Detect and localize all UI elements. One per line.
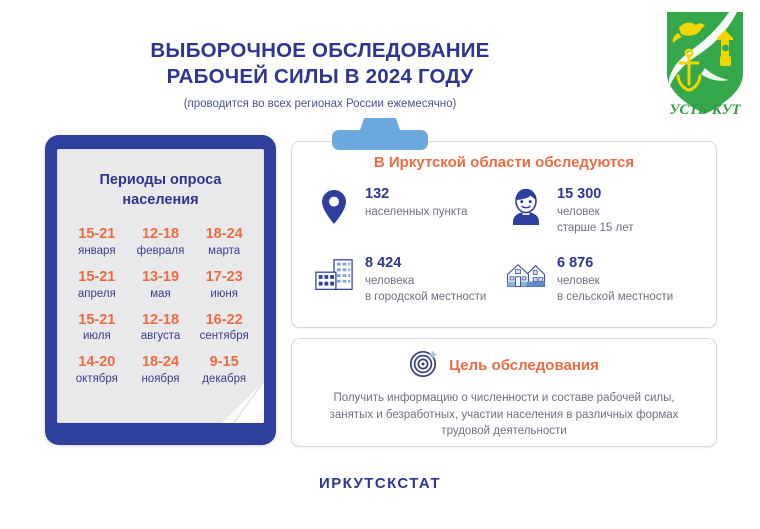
stat-label-line2: в сельской местности xyxy=(557,291,673,303)
period-cell: 18-24 марта xyxy=(192,226,256,258)
stat-settlements: 132 населенных пункта xyxy=(314,185,506,236)
period-range: 15-21 xyxy=(65,226,129,244)
logo-caption: УСТЬ-КУТ xyxy=(669,102,741,118)
clipboard-paper: Периоды опроса населения 15-21 января 12… xyxy=(57,149,264,423)
clipboard-title: Периоды опроса населения xyxy=(71,171,250,210)
period-cell: 17-23 июня xyxy=(192,269,256,301)
goal-header: Цель обследования xyxy=(292,348,716,383)
period-month: августа xyxy=(129,329,193,343)
page-title: ВЫБОРОЧНОЕ ОБСЛЕДОВАНИЕ РАБОЧЕЙ СИЛЫ В 2… xyxy=(0,38,640,89)
period-range: 13-19 xyxy=(129,269,193,287)
period-cell: 12-18 августа xyxy=(129,312,193,344)
survey-periods-grid: 15-21 января 12-18 февраля 18-24 марта 1… xyxy=(65,226,256,386)
ust-kut-coat-of-arms-icon: УСТЬ-КУТ xyxy=(659,8,751,120)
stat-value: 15 300 xyxy=(557,186,633,203)
period-cell: 15-21 января xyxy=(65,226,129,258)
period-range: 12-18 xyxy=(129,226,193,244)
footer-organization: ИРКУТСКСТАТ xyxy=(0,475,760,492)
stat-people-over-15: 15 300 человек старше 15 лет xyxy=(506,185,698,236)
period-range: 17-23 xyxy=(192,269,256,287)
period-month: сентября xyxy=(192,329,256,343)
stat-text: 132 населенных пункта xyxy=(365,185,468,221)
target-icon xyxy=(409,348,439,383)
ust-kut-logo: УСТЬ-КУТ xyxy=(659,8,751,120)
clipboard-title-line1: Периоды опроса xyxy=(100,172,222,188)
goal-text-line2: занятых и безработных, участии населения… xyxy=(330,409,679,421)
goal-title: Цель обследования xyxy=(449,357,599,374)
period-month: марта xyxy=(192,244,256,258)
stat-label: человек в сельской местности xyxy=(557,274,673,305)
region-stats-panel: В Иркутской области обследуются 132 насе… xyxy=(291,141,717,328)
period-range: 16-22 xyxy=(192,312,256,330)
page-fold-corner-icon xyxy=(212,371,264,423)
page-subtitle: (проводится во всех регионах России ежем… xyxy=(0,98,640,110)
clipboard-title-line2: населения xyxy=(122,192,198,208)
period-range: 18-24 xyxy=(192,226,256,244)
period-range: 9-15 xyxy=(192,354,256,372)
stat-label-line1: человека xyxy=(365,275,414,287)
stat-urban-population: 8 424 человека в городской местности xyxy=(314,254,506,305)
rural-houses-icon xyxy=(506,254,546,298)
goal-text-line1: Получить информацию о численности и сост… xyxy=(333,392,674,404)
period-cell: 18-24 ноября xyxy=(129,354,193,386)
period-range: 12-18 xyxy=(129,312,193,330)
period-cell: 15-21 апреля xyxy=(65,269,129,301)
clipboard-clip-top xyxy=(358,118,402,136)
period-cell: 15-21 июля xyxy=(65,312,129,344)
period-month: апреля xyxy=(65,287,129,301)
page-header: ВЫБОРОЧНОЕ ОБСЛЕДОВАНИЕ РАБОЧЕЙ СИЛЫ В 2… xyxy=(0,38,640,110)
stat-label-line1: человек xyxy=(557,275,600,287)
period-month: ноября xyxy=(129,372,193,386)
stat-label: населенных пункта xyxy=(365,205,468,220)
period-cell: 13-19 мая xyxy=(129,269,193,301)
page-title-line1: ВЫБОРОЧНОЕ ОБСЛЕДОВАНИЕ xyxy=(150,39,489,62)
goal-description: Получить информацию о численности и сост… xyxy=(314,390,694,440)
period-cell: 16-22 сентября xyxy=(192,312,256,344)
period-range: 15-21 xyxy=(65,312,129,330)
stat-text: 15 300 человек старше 15 лет xyxy=(557,185,633,236)
person-icon xyxy=(506,185,546,229)
stat-label: человек старше 15 лет xyxy=(557,205,633,236)
period-range: 14-20 xyxy=(65,354,129,372)
stat-value: 8 424 xyxy=(365,255,486,272)
goal-text-line3: трудовой деятельности xyxy=(441,425,566,437)
period-month: июня xyxy=(192,287,256,301)
period-range: 18-24 xyxy=(129,354,193,372)
survey-goal-panel: Цель обследования Получить информацию о … xyxy=(291,338,717,447)
city-buildings-icon xyxy=(314,254,354,298)
period-month: июля xyxy=(65,329,129,343)
stat-label-line2: в городской местности xyxy=(365,291,486,303)
stat-label-line2: старше 15 лет xyxy=(557,222,633,234)
clipboard-clip xyxy=(332,118,428,150)
period-cell: 12-18 февраля xyxy=(129,226,193,258)
map-pin-icon xyxy=(314,185,354,229)
period-month: февраля xyxy=(129,244,193,258)
stat-value: 6 876 xyxy=(557,255,673,272)
period-month: января xyxy=(65,244,129,258)
region-stats-grid: 132 населенных пункта 15 300 xyxy=(292,185,716,305)
stat-value: 132 xyxy=(365,186,468,203)
period-month: октября xyxy=(65,372,129,386)
stat-rural-population: 6 876 человек в сельской местности xyxy=(506,254,698,305)
period-range: 15-21 xyxy=(65,269,129,287)
survey-periods-clipboard: Периоды опроса населения 15-21 января 12… xyxy=(45,135,276,445)
stat-text: 8 424 человека в городской местности xyxy=(365,254,486,305)
stat-label: человека в городской местности xyxy=(365,274,486,305)
page-title-line2: РАБОЧЕЙ СИЛЫ В 2024 ГОДУ xyxy=(167,65,474,88)
stat-text: 6 876 человек в сельской местности xyxy=(557,254,673,305)
period-cell: 14-20 октября xyxy=(65,354,129,386)
stat-label-line1: человек xyxy=(557,206,600,218)
region-panel-title: В Иркутской области обследуются xyxy=(292,154,716,171)
period-month: мая xyxy=(129,287,193,301)
